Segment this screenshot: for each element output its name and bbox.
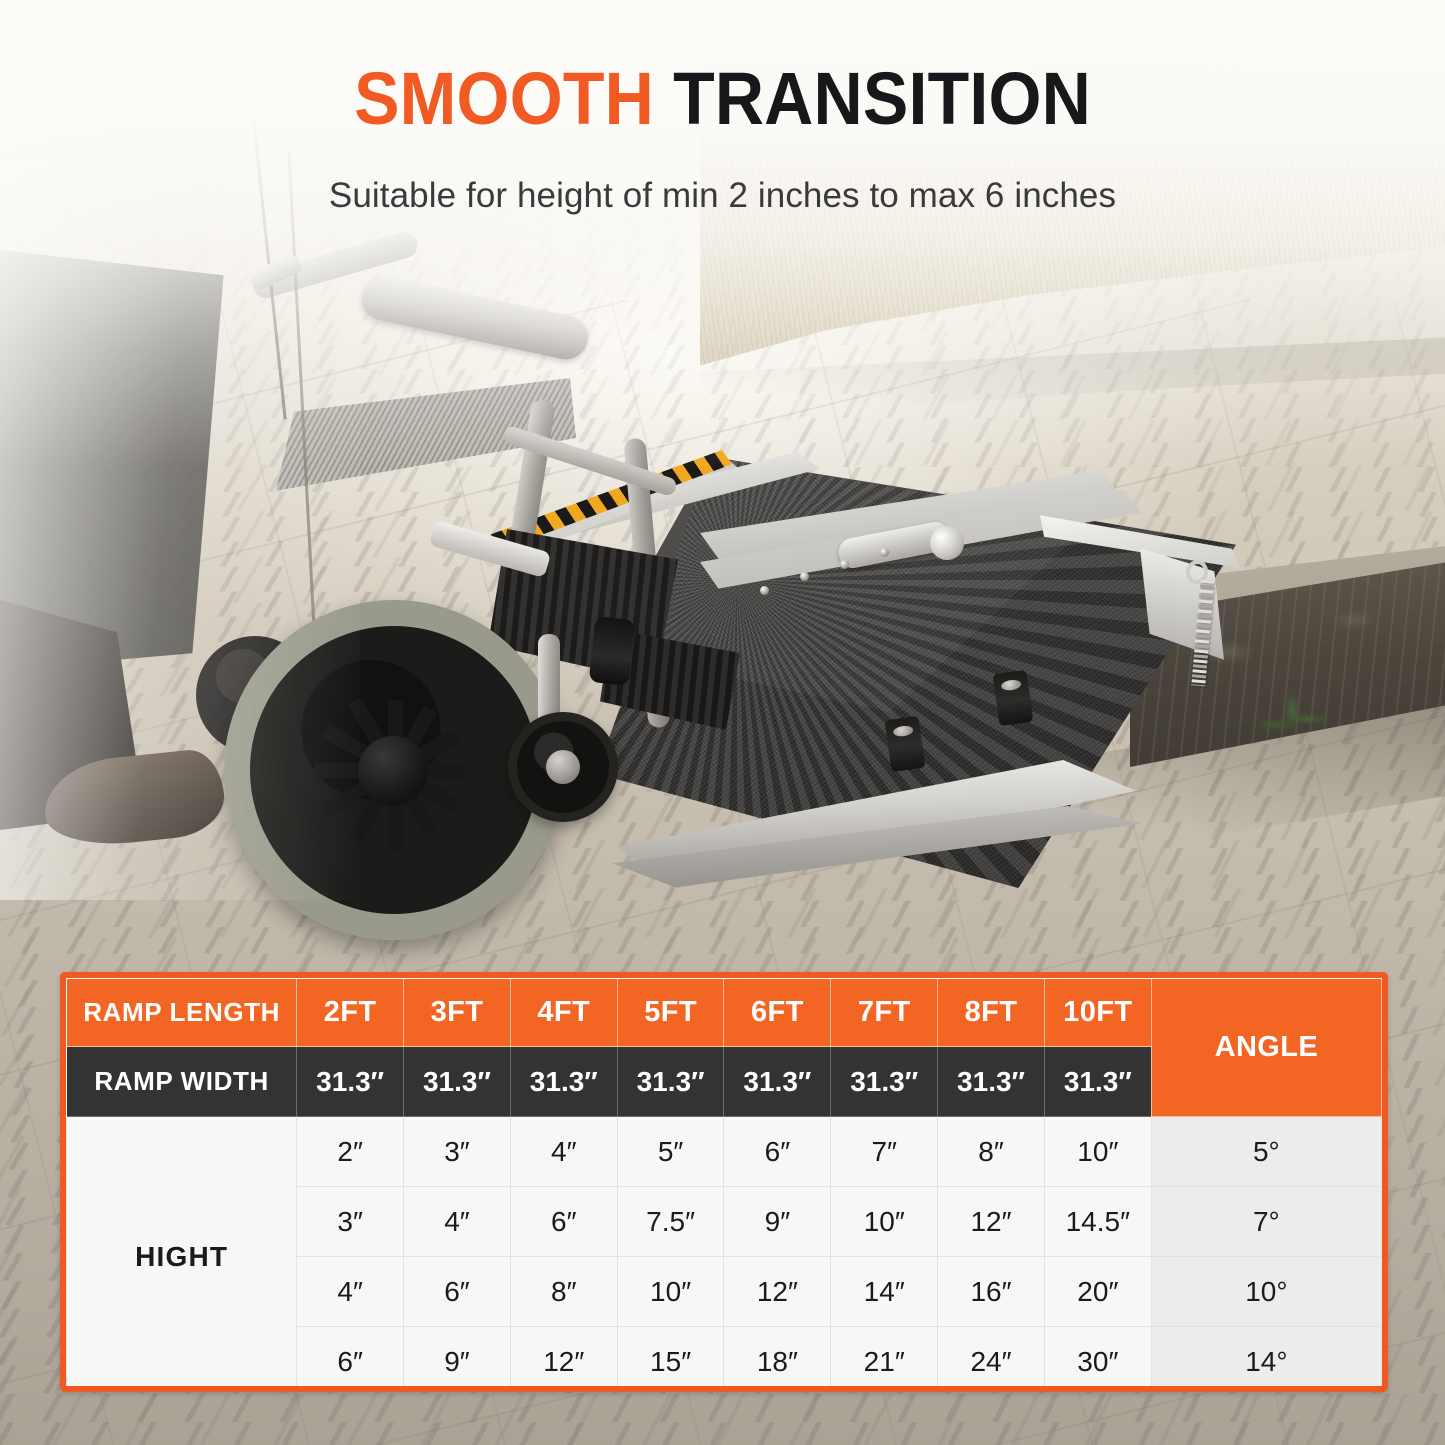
caster-hub	[546, 750, 580, 784]
headline-dark-word: TRANSITION	[673, 57, 1091, 140]
cell-height-r1-c4: 5″	[617, 1117, 724, 1187]
column-header-length-5: 6FT	[724, 979, 831, 1047]
cell-height-r4-c1: 6″	[297, 1327, 404, 1393]
column-header-length-6: 7FT	[831, 979, 938, 1047]
column-header-length-4: 5FT	[617, 979, 724, 1047]
cell-height-r4-c5: 18″	[724, 1327, 831, 1393]
rail-bolt	[840, 560, 849, 569]
cell-ramp-width-8: 31.3″	[1044, 1047, 1151, 1117]
cell-height-r2-c4: 7.5″	[617, 1187, 724, 1257]
headline-accent-word: SMOOTH	[354, 57, 654, 140]
cell-height-r2-c3: 6″	[510, 1187, 617, 1257]
cell-ramp-width-7: 31.3″	[938, 1047, 1045, 1117]
cell-height-r4-c6: 21″	[831, 1327, 938, 1393]
cell-ramp-width-5: 31.3″	[724, 1047, 831, 1117]
column-header-length-8: 10FT	[1044, 979, 1151, 1047]
cell-height-r2-c8: 14.5″	[1044, 1187, 1151, 1257]
page-title: SMOOTH TRANSITION	[58, 62, 1387, 136]
cell-height-r4-c8: 30″	[1044, 1327, 1151, 1393]
cell-ramp-width-1: 31.3″	[297, 1047, 404, 1117]
row-header-ramp-width: RAMP WIDTH	[67, 1047, 297, 1117]
cell-height-r2-c5: 9″	[724, 1187, 831, 1257]
cell-height-r3-c3: 8″	[510, 1257, 617, 1327]
spec-table: RAMP LENGTH2FT3FT4FT5FT6FT7FT8FT10FTANGL…	[66, 978, 1382, 1392]
table-row-ramp-length: RAMP LENGTH2FT3FT4FT5FT6FT7FT8FT10FTANGL…	[67, 979, 1382, 1047]
ramp-strap-buckle-right	[993, 670, 1034, 726]
column-header-length-3: 4FT	[510, 979, 617, 1047]
cell-height-r3-c8: 20″	[1044, 1257, 1151, 1327]
cell-height-r1-c6: 7″	[831, 1117, 938, 1187]
cell-height-r3-c4: 10″	[617, 1257, 724, 1327]
column-header-angle: ANGLE	[1151, 979, 1381, 1117]
cell-angle-r1: 5°	[1151, 1117, 1381, 1187]
row-header-ramp-length: RAMP LENGTH	[67, 979, 297, 1047]
cell-height-r3-c5: 12″	[724, 1257, 831, 1327]
specification-table: RAMP LENGTH2FT3FT4FT5FT6FT7FT8FT10FTANGL…	[60, 972, 1388, 1392]
cell-ramp-width-6: 31.3″	[831, 1047, 938, 1117]
cell-ramp-width-2: 31.3″	[404, 1047, 511, 1117]
table-row: HIGHT2″3″4″5″6″7″8″10″5°	[67, 1117, 1382, 1187]
cell-height-r1-c7: 8″	[938, 1117, 1045, 1187]
rail-bolt	[880, 548, 889, 557]
cell-angle-r3: 10°	[1151, 1257, 1381, 1327]
cell-height-r3-c1: 4″	[297, 1257, 404, 1327]
weed-plant	[1250, 690, 1338, 746]
cell-angle-r2: 7°	[1151, 1187, 1381, 1257]
cell-height-r1-c2: 3″	[404, 1117, 511, 1187]
cell-height-r4-c4: 15″	[617, 1327, 724, 1393]
cell-height-r4-c3: 12″	[510, 1327, 617, 1393]
page-subtitle: Suitable for height of min 2 inches to m…	[0, 176, 1445, 216]
cell-height-r4-c7: 24″	[938, 1327, 1045, 1393]
cell-height-r1-c5: 6″	[724, 1117, 831, 1187]
cell-height-r1-c3: 4″	[510, 1117, 617, 1187]
cell-height-r2-c7: 12″	[938, 1187, 1045, 1257]
cell-height-r4-c2: 9″	[404, 1327, 511, 1393]
row-header-height: HIGHT	[67, 1117, 297, 1393]
cell-angle-r4: 14°	[1151, 1327, 1381, 1393]
cell-height-r3-c6: 14″	[831, 1257, 938, 1327]
column-header-length-7: 8FT	[938, 979, 1045, 1047]
column-header-length-1: 2FT	[297, 979, 404, 1047]
wheel-hub	[358, 736, 428, 806]
cell-height-r3-c7: 16″	[938, 1257, 1045, 1327]
ramp-strap-buckle-left	[885, 716, 926, 772]
cell-height-r2-c6: 10″	[831, 1187, 938, 1257]
cell-height-r1-c1: 2″	[297, 1117, 404, 1187]
cell-height-r1-c8: 10″	[1044, 1117, 1151, 1187]
rail-bolt	[760, 586, 769, 595]
rail-bolt	[800, 572, 809, 581]
cell-height-r3-c2: 6″	[404, 1257, 511, 1327]
column-header-length-2: 3FT	[404, 979, 511, 1047]
cell-ramp-width-3: 31.3″	[510, 1047, 617, 1117]
cell-ramp-width-4: 31.3″	[617, 1047, 724, 1117]
cell-height-r2-c1: 3″	[297, 1187, 404, 1257]
cell-height-r2-c2: 4″	[404, 1187, 511, 1257]
wheelchair-grip	[589, 616, 636, 686]
